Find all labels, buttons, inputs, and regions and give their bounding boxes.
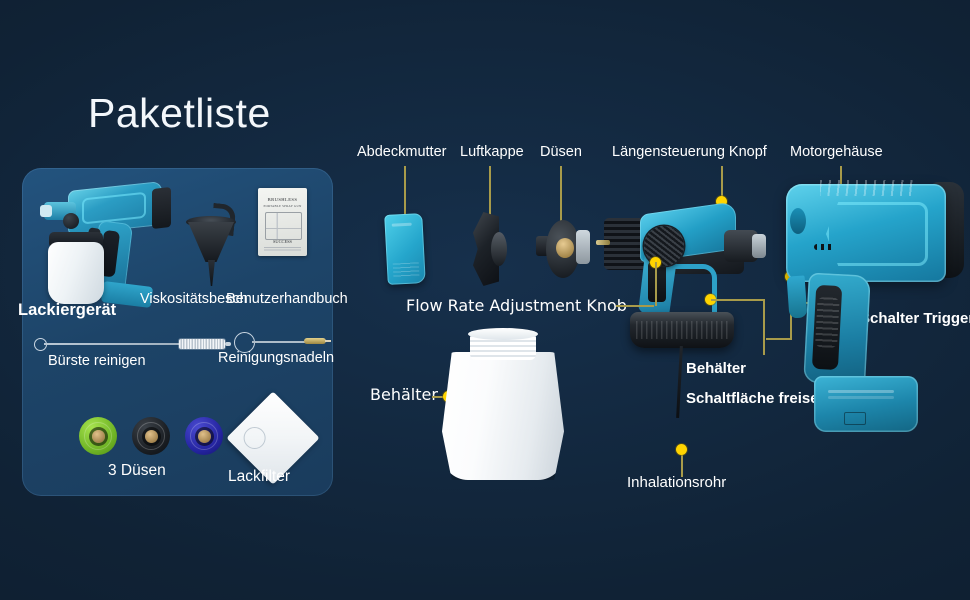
- part-paint-container: [442, 330, 564, 480]
- package-item-label-needles: Reinigungsnadeln: [218, 350, 334, 366]
- part-motor-handle-unit: [780, 178, 966, 440]
- manual-footer: SUCCESS: [258, 239, 307, 244]
- package-item-label-manual: Benutzerhandbuch: [226, 291, 348, 307]
- leader-line-flow-rate-vertical: [655, 262, 657, 306]
- leader-line-container-assembly-h: [711, 299, 764, 301]
- package-item-label-sprayer: Lackiergerät: [18, 301, 116, 320]
- package-list-panel: Lackiergerät Viskositätsbesch BRUSHLESS …: [22, 168, 333, 496]
- manual-title: BRUSHLESS: [258, 197, 307, 202]
- callout-label-container-jar: Behälter: [370, 385, 438, 404]
- package-item-label-filter: Lackfilter: [228, 468, 290, 486]
- callout-dot-suction-tube: [676, 444, 687, 455]
- nozzle-blue-icon: [185, 417, 223, 455]
- part-covering-nut: [384, 213, 426, 285]
- callout-label-length-control-knob: Längensteuerung Knopf: [612, 144, 767, 160]
- cleaning-brush-icon: [34, 335, 234, 353]
- package-item-label-brush: Bürste reinigen: [48, 353, 146, 369]
- viscosity-funnel-icon: [182, 204, 242, 290]
- leader-line-flow-rate-adjustment-knob: [616, 305, 654, 307]
- callout-label-flow-rate-adjustment-knob: Flow Rate Adjustment Knob: [406, 296, 627, 315]
- nozzle-black-icon: [132, 417, 170, 455]
- package-item-label-nozzles: 3 Düsen: [108, 462, 166, 480]
- callout-label-air-cap: Luftkappe: [460, 144, 524, 160]
- manual-booklet-icon: BRUSHLESS PORTABLE SPRAY GUN SUCCESS: [258, 188, 307, 256]
- callout-label-nozzles: Düsen: [540, 144, 582, 160]
- manual-illustration: [265, 212, 302, 240]
- callout-label-covering-nut: Abdeckmutter: [357, 144, 446, 160]
- manual-subtitle: PORTABLE SPRAY GUN: [258, 204, 307, 208]
- page-title: Paketliste: [88, 90, 271, 137]
- leader-line-container-assembly-v: [763, 299, 765, 355]
- part-spray-head-assembly: [600, 190, 790, 380]
- part-air-cap: [467, 212, 507, 286]
- nozzle-green-icon: [79, 417, 117, 455]
- infographic-canvas: Paketliste Lackiergerät Viskositätsbesch: [0, 0, 970, 600]
- part-nozzles: [536, 212, 590, 286]
- callout-label-container-assembly: Behälter: [686, 360, 746, 377]
- callout-label-suction-tube: Inhalationsrohr: [627, 474, 726, 491]
- callout-label-motor-housing: Motorgehäuse: [790, 144, 883, 160]
